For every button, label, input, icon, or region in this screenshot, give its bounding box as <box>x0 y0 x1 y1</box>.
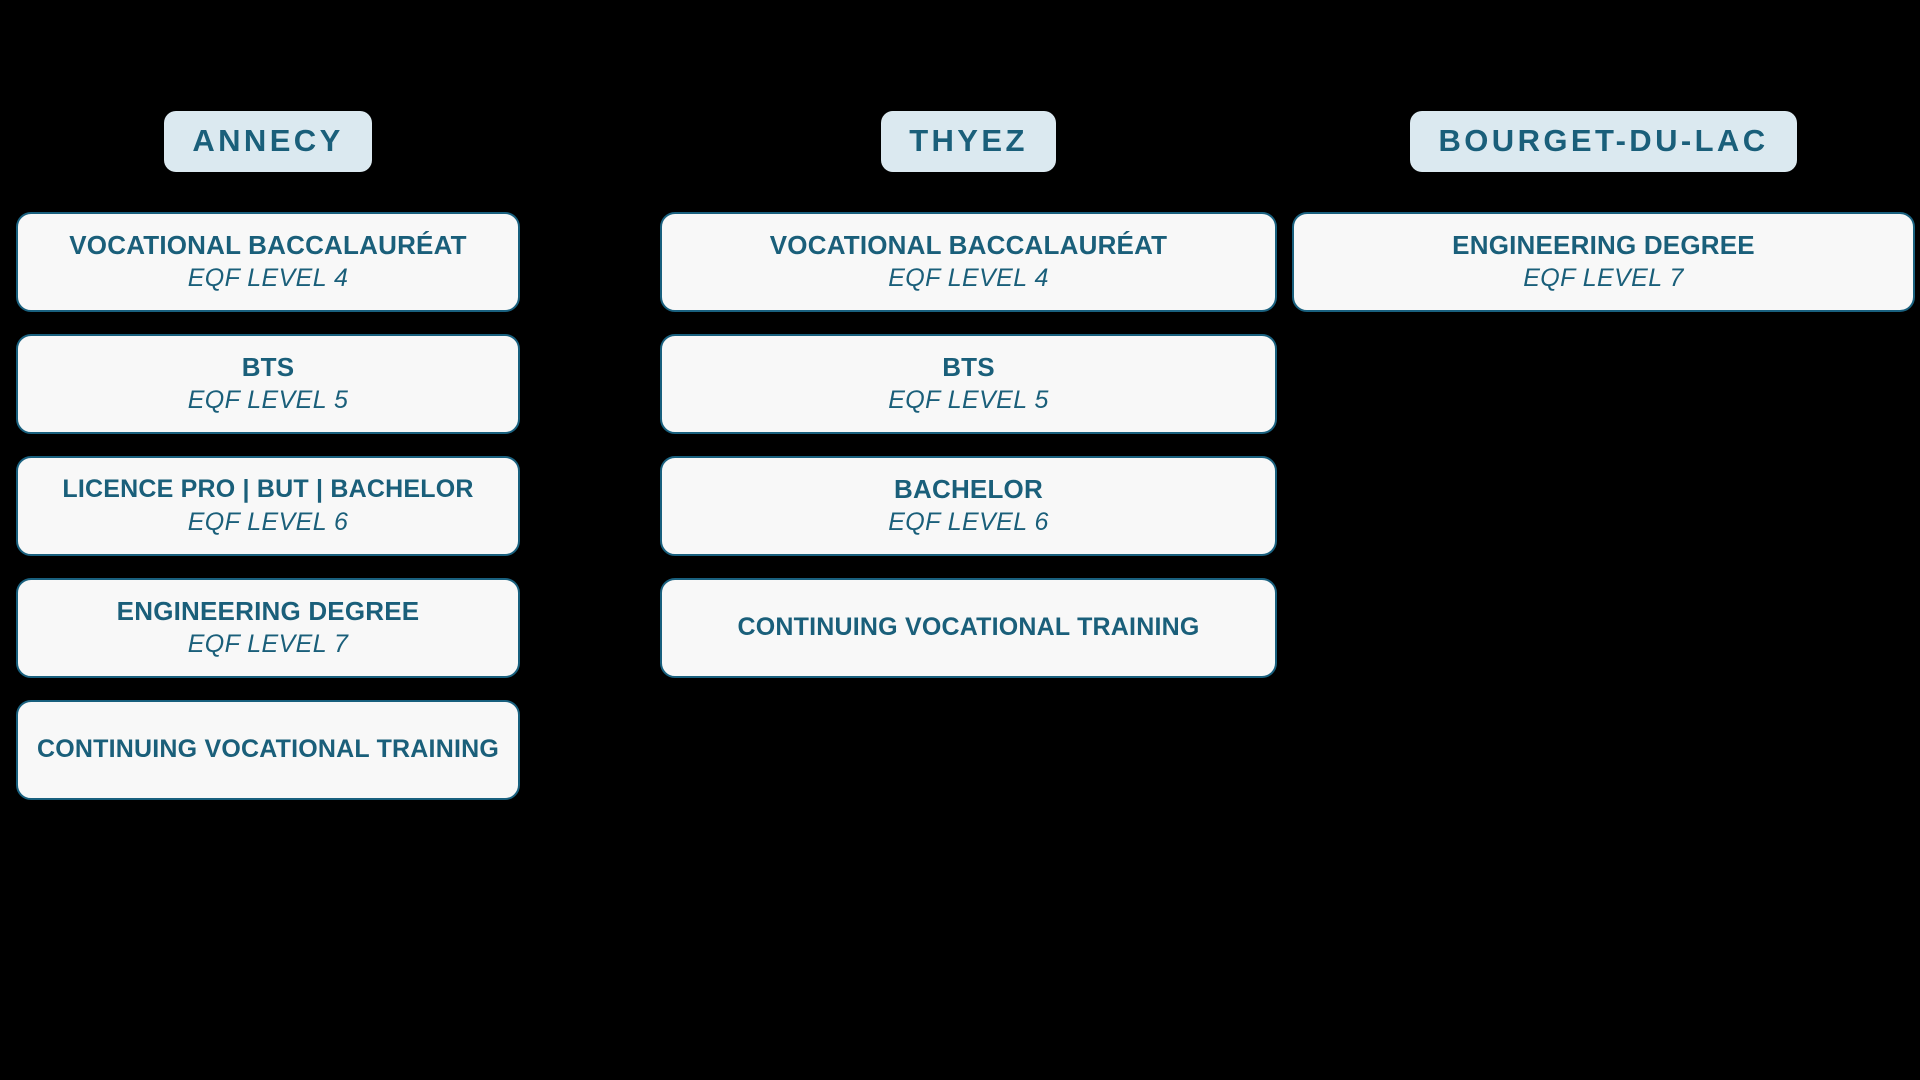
campus-column-thyez: THYEZVOCATIONAL BACCALAURÉATEQF LEVEL 4B… <box>660 0 1277 678</box>
qualification-title: CONTINUING VOCATIONAL TRAINING <box>737 613 1199 643</box>
qualification-card[interactable]: VOCATIONAL BACCALAURÉATEQF LEVEL 4 <box>16 212 520 312</box>
qualification-card[interactable]: CONTINUING VOCATIONAL TRAINING <box>660 578 1277 678</box>
qualification-title: BTS <box>942 352 995 383</box>
qualification-card-list: ENGINEERING DEGREEEQF LEVEL 7 <box>1292 212 1915 312</box>
campus-header: ANNECY <box>16 0 520 212</box>
eqf-level-label: EQF LEVEL 4 <box>888 263 1049 294</box>
eqf-level-label: EQF LEVEL 6 <box>188 507 349 538</box>
eqf-level-label: EQF LEVEL 6 <box>888 507 1049 538</box>
campus-name-badge[interactable]: THYEZ <box>881 111 1056 172</box>
qualification-title: VOCATIONAL BACCALAURÉAT <box>69 230 466 261</box>
qualification-card[interactable]: ENGINEERING DEGREEEQF LEVEL 7 <box>1292 212 1915 312</box>
eqf-level-label: EQF LEVEL 5 <box>188 385 349 416</box>
campus-header: BOURGET-DU-LAC <box>1292 0 1915 212</box>
qualifications-board: ANNECYVOCATIONAL BACCALAURÉATEQF LEVEL 4… <box>0 0 1920 1080</box>
campus-name-badge[interactable]: ANNECY <box>164 111 371 172</box>
qualification-card[interactable]: BTSEQF LEVEL 5 <box>16 334 520 434</box>
qualification-card-list: VOCATIONAL BACCALAURÉATEQF LEVEL 4BTSEQF… <box>660 212 1277 678</box>
qualification-card[interactable]: VOCATIONAL BACCALAURÉATEQF LEVEL 4 <box>660 212 1277 312</box>
qualification-card[interactable]: CONTINUING VOCATIONAL TRAINING <box>16 700 520 800</box>
qualification-title: BTS <box>242 352 295 383</box>
qualification-title: LICENCE PRO | BUT | BACHELOR <box>62 475 473 505</box>
campus-column-annecy: ANNECYVOCATIONAL BACCALAURÉATEQF LEVEL 4… <box>16 0 520 800</box>
qualification-title: VOCATIONAL BACCALAURÉAT <box>770 230 1167 261</box>
eqf-level-label: EQF LEVEL 7 <box>1523 263 1684 294</box>
campus-name-badge[interactable]: BOURGET-DU-LAC <box>1410 111 1796 172</box>
qualification-card[interactable]: BTSEQF LEVEL 5 <box>660 334 1277 434</box>
qualification-title: ENGINEERING DEGREE <box>1452 230 1755 261</box>
qualification-title: CONTINUING VOCATIONAL TRAINING <box>37 735 499 765</box>
campus-column-bourget-du-lac: BOURGET-DU-LACENGINEERING DEGREEEQF LEVE… <box>1292 0 1915 312</box>
qualification-card[interactable]: LICENCE PRO | BUT | BACHELOREQF LEVEL 6 <box>16 456 520 556</box>
eqf-level-label: EQF LEVEL 7 <box>188 629 349 660</box>
eqf-level-label: EQF LEVEL 5 <box>888 385 1049 416</box>
qualification-card[interactable]: BACHELOREQF LEVEL 6 <box>660 456 1277 556</box>
qualification-card-list: VOCATIONAL BACCALAURÉATEQF LEVEL 4BTSEQF… <box>16 212 520 800</box>
campus-header: THYEZ <box>660 0 1277 212</box>
eqf-level-label: EQF LEVEL 4 <box>188 263 349 294</box>
qualification-title: ENGINEERING DEGREE <box>117 596 420 627</box>
qualification-card[interactable]: ENGINEERING DEGREEEQF LEVEL 7 <box>16 578 520 678</box>
qualification-title: BACHELOR <box>894 474 1043 505</box>
